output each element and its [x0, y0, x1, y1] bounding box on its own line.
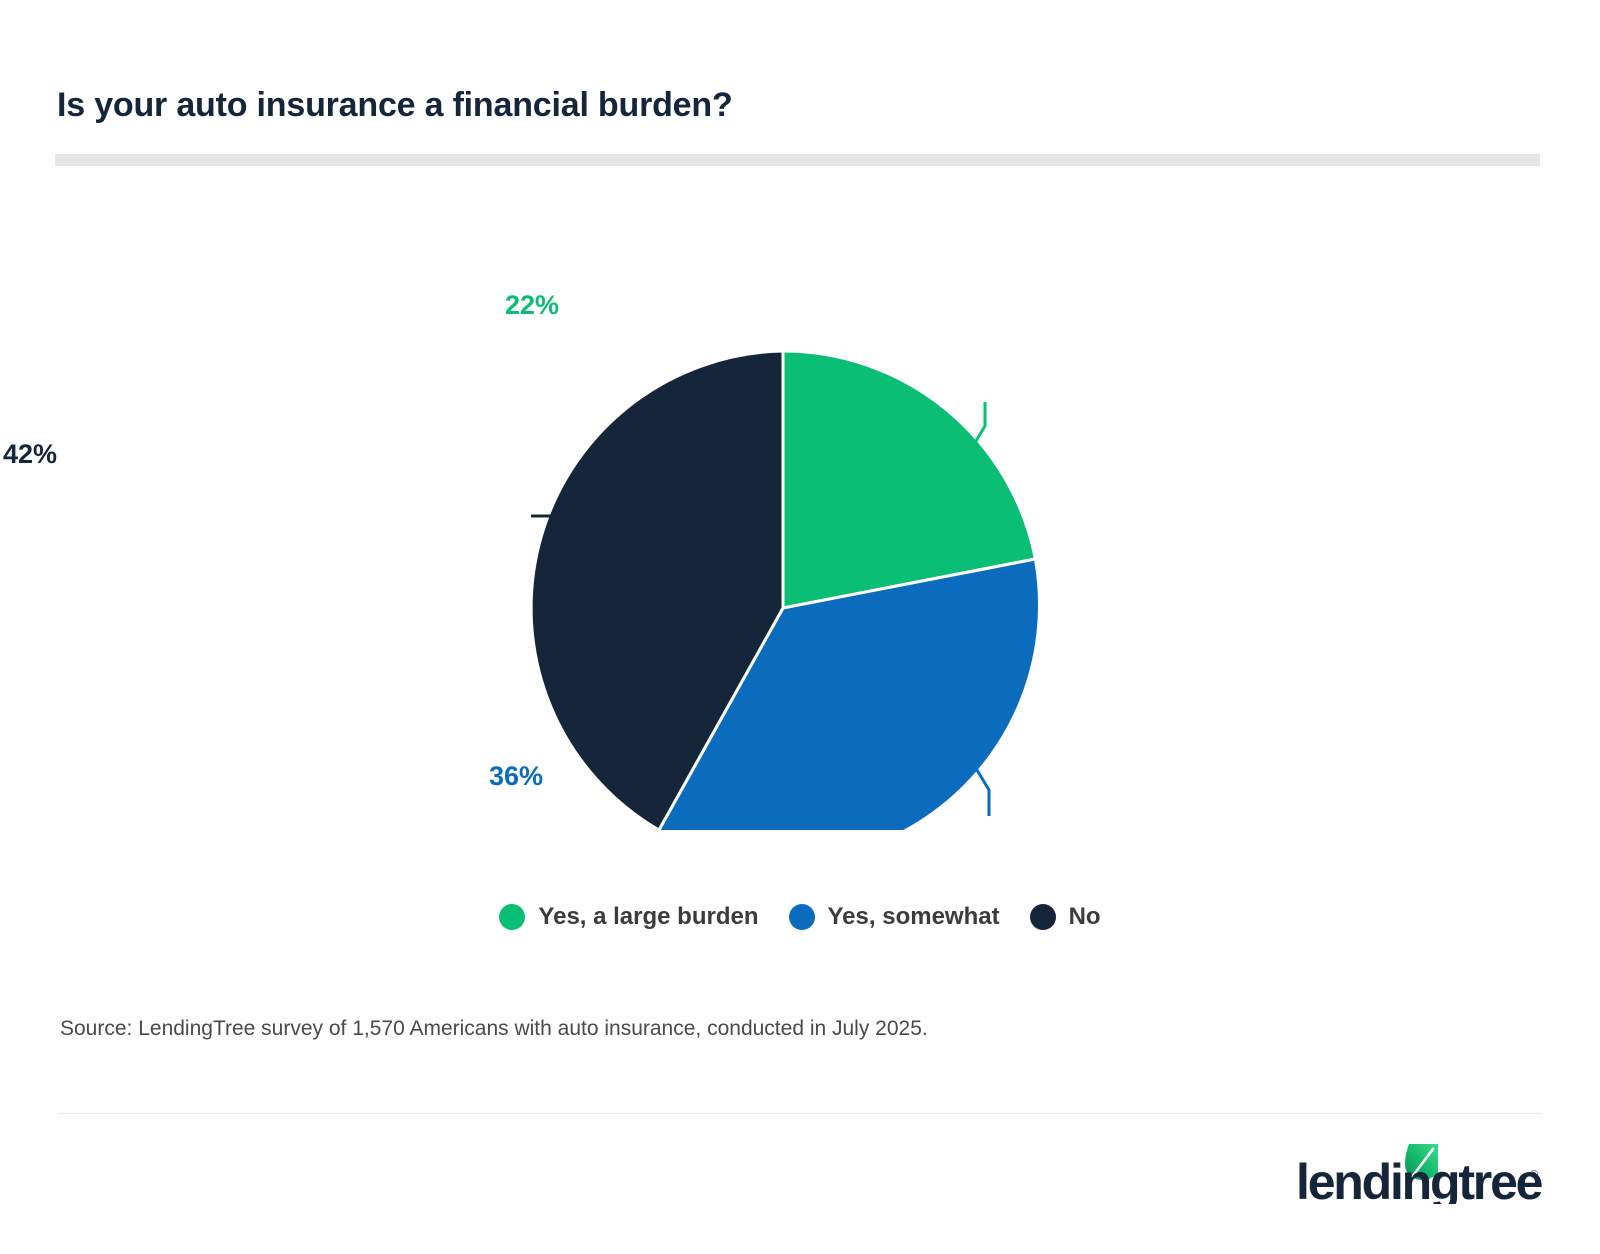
pie-graphic [455, 250, 1115, 830]
legend-label-yes-somewhat: Yes, somewhat [828, 903, 1000, 931]
legend-swatch-green [499, 904, 525, 930]
infographic-page: Is your auto insurance a financial burde… [0, 0, 1600, 1254]
logo-registered-mark: ® [1530, 1169, 1538, 1181]
legend-label-no: No [1069, 903, 1101, 931]
pie-chart: 22% 36% 42% [0, 190, 1600, 850]
data-label-no: 42% [3, 439, 57, 470]
legend-item-yes-large-burden[interactable]: Yes, a large burden [499, 903, 758, 931]
legend-swatch-blue [789, 904, 815, 930]
legend-item-yes-somewhat[interactable]: Yes, somewhat [789, 903, 1000, 931]
pie-slices [531, 351, 1039, 830]
legend-label-yes-large-burden: Yes, a large burden [538, 903, 758, 931]
data-label-yes-somewhat: 36% [489, 761, 543, 792]
chart-legend: Yes, a large burden Yes, somewhat No [0, 903, 1600, 931]
page-title: Is your auto insurance a financial burde… [57, 86, 733, 125]
legend-swatch-navy [1030, 904, 1056, 930]
footer-divider [58, 1113, 1542, 1114]
lendingtree-logo-svg: lendingtree ® [1292, 1142, 1542, 1204]
logo-wordmark: lendingtree [1296, 1154, 1542, 1204]
header-divider [55, 154, 1540, 166]
legend-item-no[interactable]: No [1030, 903, 1101, 931]
lendingtree-logo[interactable]: lendingtree ® [1292, 1148, 1542, 1204]
source-note: Source: LendingTree survey of 1,570 Amer… [60, 1017, 928, 1041]
data-label-yes-large-burden: 22% [505, 290, 559, 321]
pie-svg [455, 250, 1115, 830]
